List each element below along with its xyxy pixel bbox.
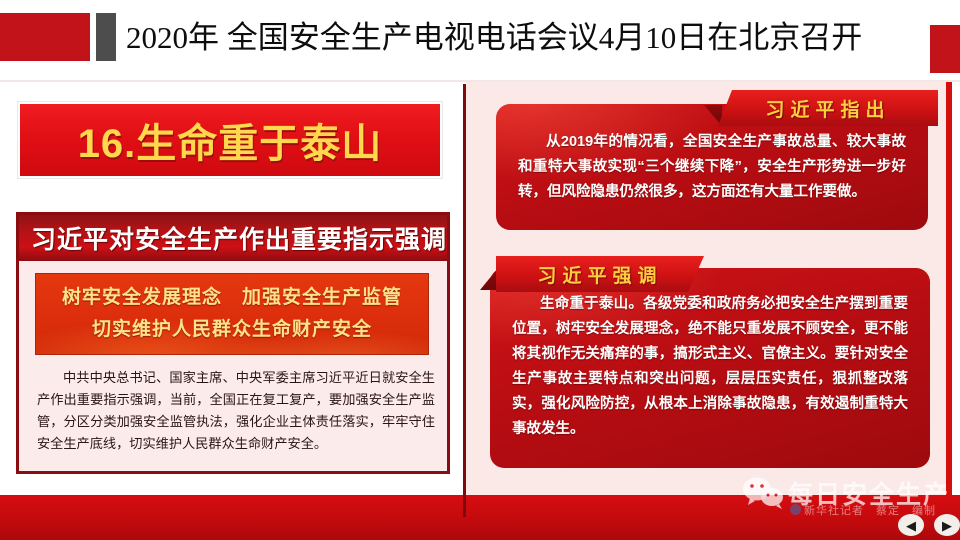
ribbon-2-text: 习近平强调 [537,261,662,288]
globe-icon [790,504,801,515]
credit-line: 新华社记者 蔡定 编制 [790,502,960,518]
directive-body-text: 中共中央总书记、国家主席、中央军委主席习近平近日就安全生产作出重要指示强调，当前… [37,367,435,455]
slogan-line-2: 切实维护人民群众生命财产安全 [92,314,372,346]
page-header: 2020年 全国安全生产电视电话会议4月10日在北京召开 [0,0,960,82]
slogan-box: 树牢安全发展理念 加强安全生产监管 切实维护人民群众生命财产安全 [35,273,429,355]
ribbon-xi-points-out: 习近平指出 [718,90,938,126]
page-title: 2020年 全国安全生产电视电话会议4月10日在北京召开 [126,16,862,60]
footer-divider [463,495,466,517]
section-title-text: 16.生命重于泰山 [78,111,383,169]
quote-card-2: 生命重于泰山。各级党委和政府务必把安全生产摆到重要位置，树牢安全发展理念，绝不能… [490,268,930,468]
next-page-button[interactable]: ▶ [934,514,960,536]
prev-page-button[interactable]: ◀ [898,514,924,536]
directive-card-header: 习近平对安全生产作出重要指示强调 [19,215,447,261]
quote-1-text: 从2019年的情况看，全国安全生产事故总量、较大事故和重特大事故实现“三个继续下… [518,130,906,205]
quote-2-text: 生命重于泰山。各级党委和政府务必把安全生产摆到重要位置，树牢安全发展理念，绝不能… [512,292,908,442]
directive-card: 习近平对安全生产作出重要指示强调 树牢安全发展理念 加强安全生产监管 切实维护人… [16,212,450,474]
ribbon-1-text: 习近平指出 [765,95,890,122]
left-panel: 16.生命重于泰山 习近平对安全生产作出重要指示强调 树牢安全发展理念 加强安全… [0,82,465,495]
section-title-banner: 16.生命重于泰山 [18,102,442,178]
header-red-block [0,13,90,61]
directive-card-header-text: 习近平对安全生产作出重要指示强调 [31,220,447,256]
poster-canvas: 2020年 全国安全生产电视电话会议4月10日在北京召开 16.生命重于泰山 习… [0,0,960,540]
header-dark-block [96,13,116,61]
prev-arrow-icon: ◀ [906,519,916,532]
slogan-line-1: 树牢安全发展理念 加强安全生产监管 [62,282,402,314]
next-arrow-icon: ▶ [942,519,952,532]
right-frame-edge [952,82,960,495]
ribbon-xi-stresses: 习近平强调 [496,256,704,292]
header-right-red-block [930,25,960,73]
